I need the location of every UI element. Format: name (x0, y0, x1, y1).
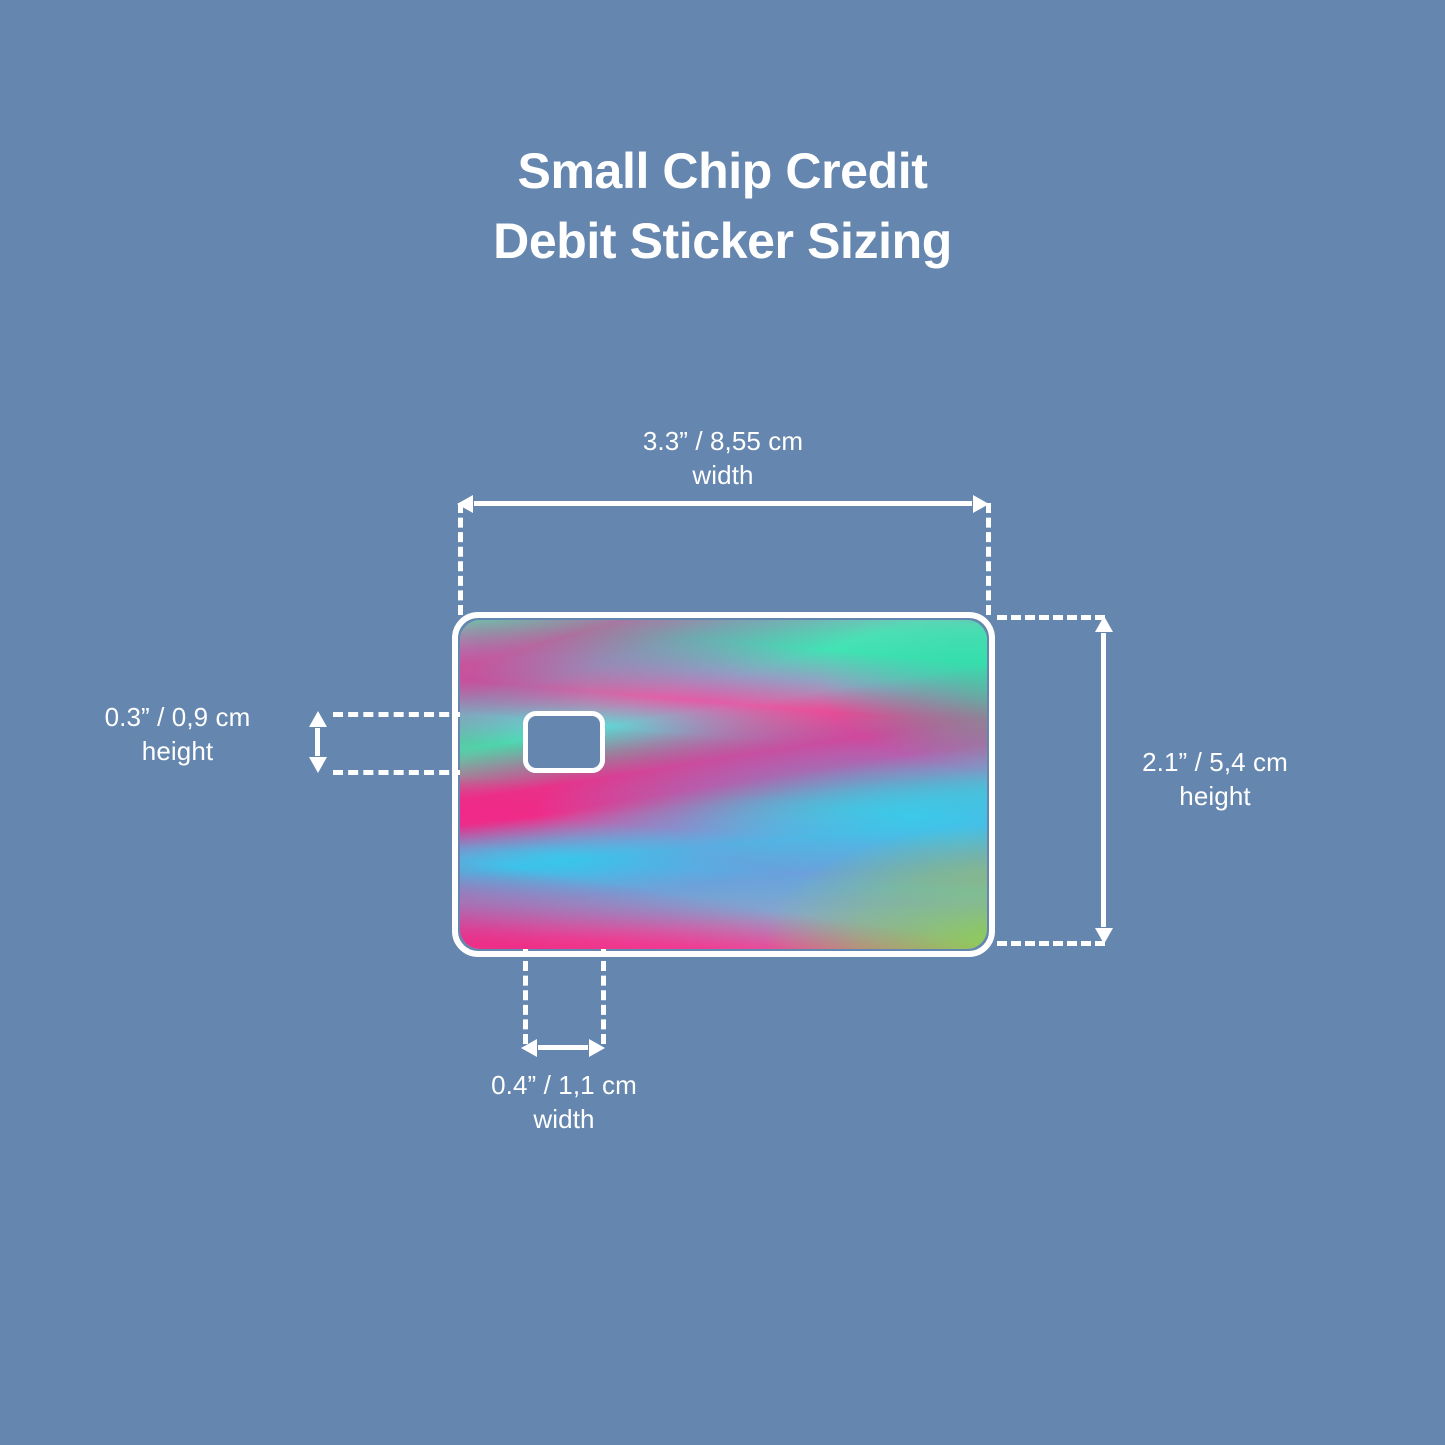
chip-height-value: 0.3” / 0,9 cm (55, 700, 300, 734)
card-height-value: 2.1” / 5,4 cm (1065, 745, 1365, 779)
card-width-extension-left (458, 503, 463, 615)
card-width-axis: width (573, 458, 873, 492)
page-title: Small Chip Credit Debit Sticker Sizing (0, 136, 1445, 276)
card-height-extension-bottom (997, 941, 1105, 946)
chip-width-axis: width (414, 1102, 714, 1136)
sizing-diagram: Small Chip Credit Debit Sticker Sizing 3… (0, 0, 1445, 1445)
card-outline (452, 612, 995, 957)
chip-height-arrow (315, 728, 320, 756)
card-height-axis: height (1065, 779, 1365, 813)
card-width-arrow (474, 501, 972, 506)
card-width-value: 3.3” / 8,55 cm (573, 424, 873, 458)
chip-height-axis: height (55, 734, 300, 768)
card-height-arrow (1101, 633, 1106, 927)
card-width-extension-right (986, 503, 991, 615)
chip-width-arrow (538, 1045, 588, 1050)
chip-cutout (523, 711, 605, 773)
chip-width-value: 0.4” / 1,1 cm (414, 1068, 714, 1102)
card-height-extension-top (997, 615, 1105, 620)
